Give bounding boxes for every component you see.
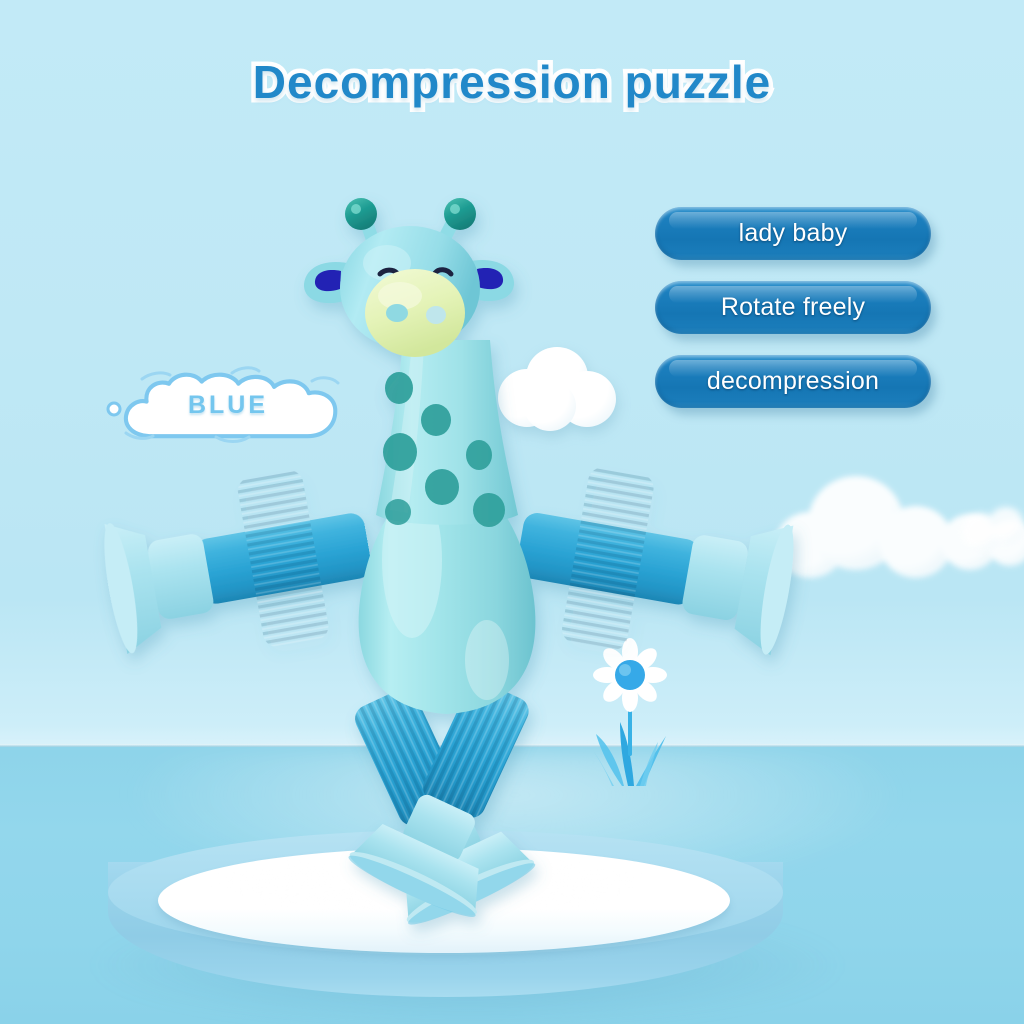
giraffe-pop-tube-toy[interactable]	[0, 0, 1024, 1024]
right-arm	[505, 456, 805, 679]
product-poster: Decompression puzzle BLUE la	[0, 0, 1024, 1024]
nostril-right	[426, 306, 446, 324]
toy-figure	[94, 198, 805, 932]
muzzle	[365, 269, 465, 357]
nostril-left	[386, 304, 408, 322]
left-arm	[94, 459, 383, 674]
toy-head	[304, 198, 514, 357]
